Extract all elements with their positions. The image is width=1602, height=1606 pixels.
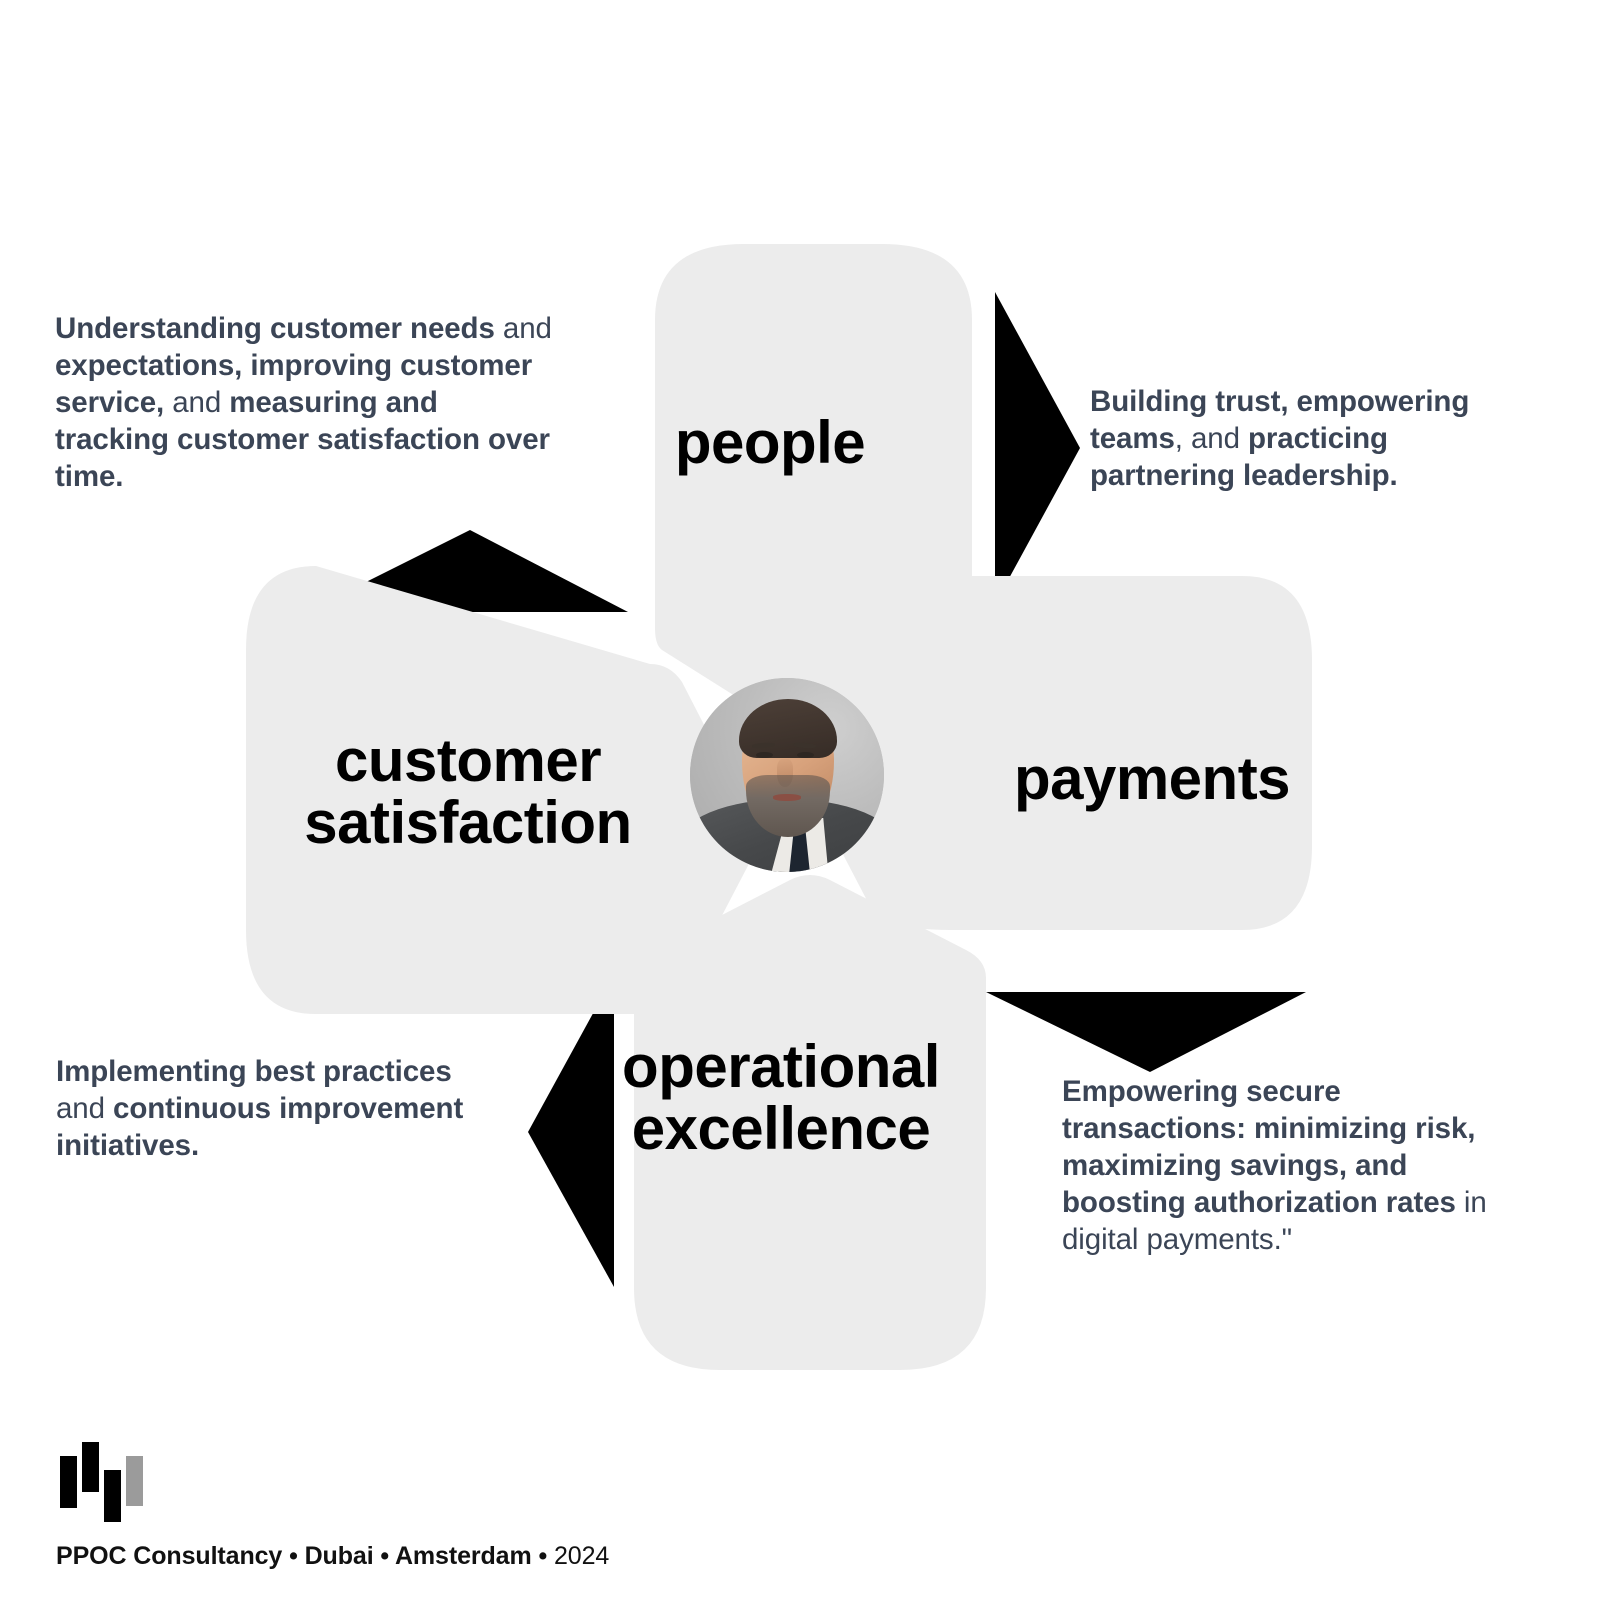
panel-title-people: people [560, 412, 980, 474]
caption-operational-excellence: Implementing best practices and continuo… [56, 1053, 504, 1164]
avatar [690, 678, 884, 872]
caption-people: Building trust, empowering teams, and pr… [1090, 383, 1502, 494]
logo-bar-1 [60, 1456, 77, 1508]
caption-segment-3: and [164, 386, 229, 419]
caption-segment-1: and [56, 1092, 113, 1125]
caption-segment-2: continuous improvement initiatives. [56, 1092, 463, 1162]
panel-title-payments: payments [952, 748, 1352, 810]
footer-sep-1: • [282, 1542, 304, 1570]
ppoc-bars-logo-icon [56, 1438, 148, 1526]
footer-city-1: Dubai [305, 1542, 374, 1570]
arrow-people-to-payments-icon [995, 292, 1080, 604]
logo-bar-3 [104, 1470, 121, 1522]
footer-year: 2024 [554, 1542, 609, 1570]
caption-segment-1: , and [1175, 422, 1248, 455]
avatar-mouth [773, 794, 800, 800]
footer-sep-2: • [374, 1542, 395, 1570]
infographic-canvas: people payments customer satisfaction op… [0, 0, 1602, 1606]
footer-sep-3: • [532, 1542, 554, 1570]
logo-bar-2 [82, 1442, 99, 1492]
arrow-payments-to-operational-icon [986, 992, 1306, 1072]
caption-customer-satisfaction: Understanding customer needs and expecta… [55, 310, 555, 495]
footer-credit-line: PPOC Consultancy • Dubai • Amsterdam • 2… [56, 1542, 656, 1571]
caption-segment-0: Implementing best practices [56, 1055, 452, 1088]
footer-city-2: Amsterdam [395, 1542, 532, 1570]
footer-company: PPOC Consultancy [56, 1542, 282, 1570]
footer: PPOC Consultancy • Dubai • Amsterdam • 2… [56, 1438, 656, 1571]
panel-title-operational-excellence: operational excellence [566, 1036, 996, 1161]
caption-payments: Empowering secure transactions: minimizi… [1062, 1073, 1512, 1258]
caption-segment-0: Empowering secure transactions: minimizi… [1062, 1075, 1475, 1219]
caption-segment-0: Understanding customer needs [55, 312, 495, 345]
panel-title-customer-satisfaction: customer satisfaction [232, 730, 704, 855]
logo-bar-4 [126, 1456, 143, 1506]
caption-segment-1: and [495, 312, 552, 345]
